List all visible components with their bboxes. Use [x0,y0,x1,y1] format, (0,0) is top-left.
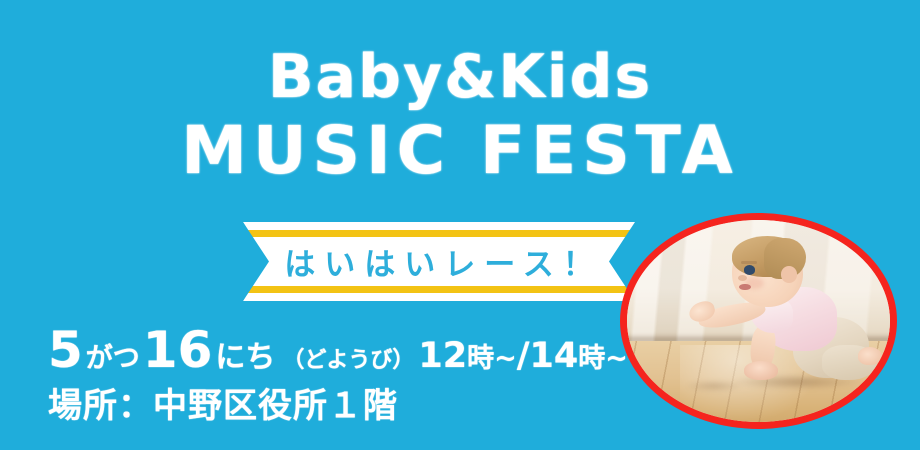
time-separator: / [517,338,530,374]
time-second-number: 14 [530,338,579,374]
baby-photo-image [627,220,890,422]
baby-eyebrow [741,261,757,264]
baby-ear [781,266,797,282]
event-info: 5 がつ 16 にち （どようび） 12 時~ / 14 時~ 場所：中野区役所… [48,324,628,426]
time-second-unit: 時~ [578,345,628,373]
ribbon-label: はいはいレース！ [243,222,635,301]
baby-photo-oval [620,213,897,429]
poster-canvas: Baby&Kids MUSIC FESTA はいはいレース！ 5 がつ 16 に… [0,0,920,450]
title-block: Baby&Kids MUSIC FESTA [0,46,920,186]
baby-figure [627,220,890,422]
day-unit: にち [215,342,275,374]
day-number: 16 [143,324,213,376]
month-unit: がつ [86,344,140,374]
place-line: 場所：中野区役所１階 [48,386,628,426]
time-first-number: 12 [418,338,467,374]
time-first-unit: 時~ [467,345,517,373]
weekday-label: （どようび） [282,349,414,373]
title-main: MUSIC FESTA [0,116,920,186]
month-number: 5 [48,324,83,376]
baby-nose [738,275,747,281]
baby-hand-shadow [685,380,743,392]
baby-eye [744,265,755,274]
ribbon-banner: はいはいレース！ [243,222,635,301]
baby-support-hand [744,361,778,379]
baby-foot [858,347,882,365]
date-line: 5 がつ 16 にち （どようび） 12 時~ / 14 時~ [48,324,628,376]
title-subtitle: Baby&Kids [0,46,920,108]
